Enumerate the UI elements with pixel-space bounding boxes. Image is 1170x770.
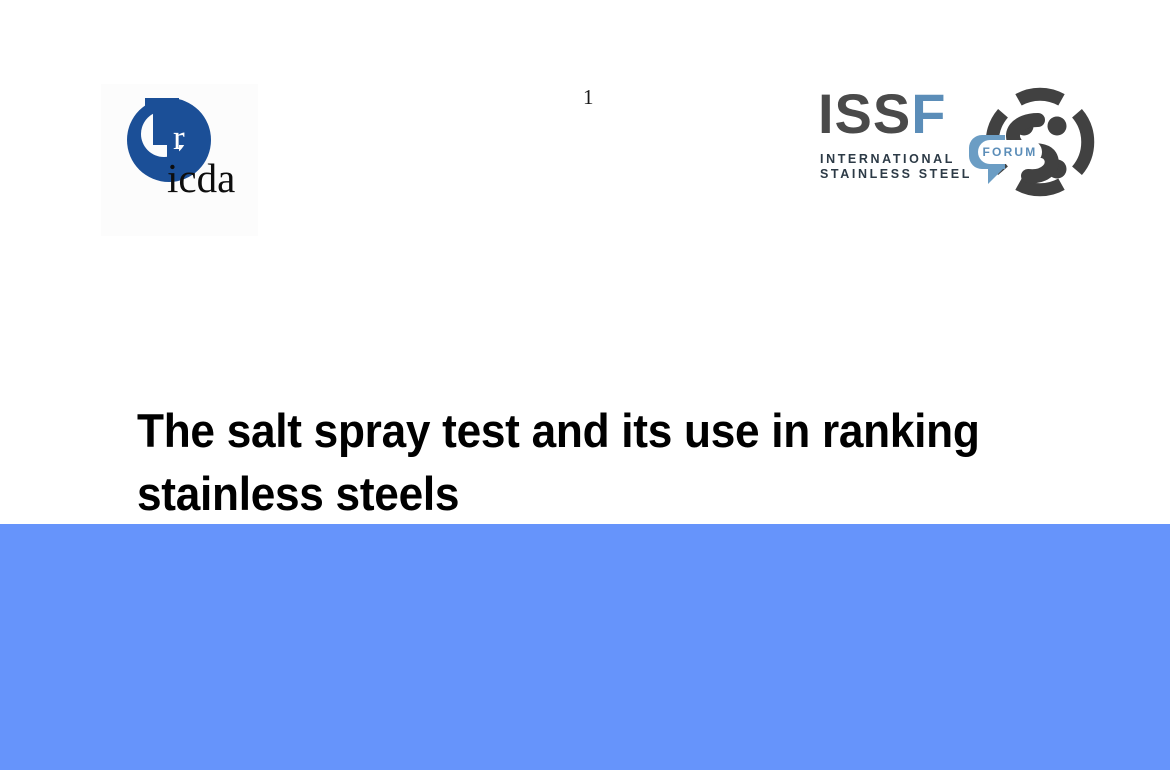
issf-subtitle-line1: INTERNATIONAL xyxy=(820,152,955,166)
issf-logo: ISSF INTERNATIONALSTAINLESS STEEL FORUM xyxy=(818,86,1104,198)
icda-wordmark: icda xyxy=(167,158,235,199)
issf-emblem-icon: FORUM xyxy=(958,84,1104,200)
page-title: The salt spray test and its use in ranki… xyxy=(137,399,983,525)
icda-logo: r icda xyxy=(101,84,258,236)
icda-r-letter: r xyxy=(173,120,185,155)
issf-wordmark-iss: ISS xyxy=(818,82,911,145)
issf-subtitle: INTERNATIONALSTAINLESS STEEL xyxy=(820,152,972,182)
issf-emblem-dot-2 xyxy=(1048,117,1067,136)
issf-wordmark: ISSF xyxy=(818,86,946,142)
issf-subtitle-line2: STAINLESS STEEL xyxy=(820,167,972,181)
issf-forum-badge-text: FORUM xyxy=(983,145,1038,159)
issf-wordmark-f: F xyxy=(911,82,946,145)
section-banner: The test and its limits xyxy=(0,524,1170,770)
presentation-slide: r icda 1 ISSF INTERNATIONALSTAINLESS STE… xyxy=(0,0,1170,770)
page-number: 1 xyxy=(583,87,594,108)
icda-c-bar xyxy=(145,98,179,109)
